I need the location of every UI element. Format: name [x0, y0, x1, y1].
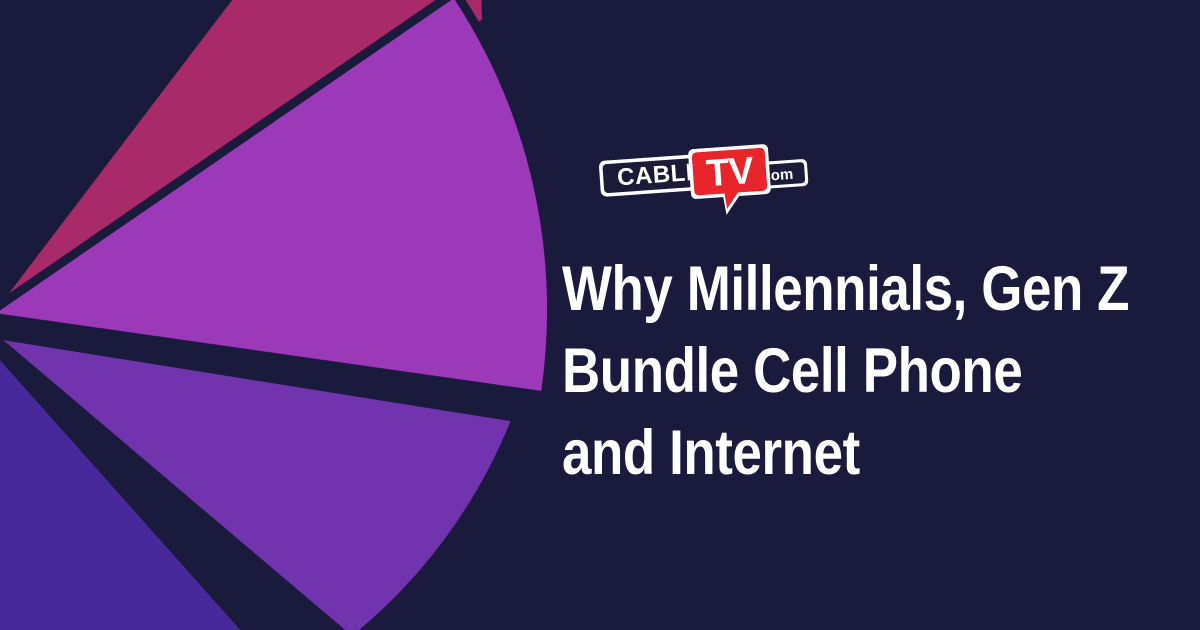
headline-line-3: and Internet	[562, 412, 1083, 494]
logo-tv-text: TV	[705, 150, 756, 195]
social-share-card: CABLE .com TV Why Millennials, Gen Z Bun…	[0, 0, 1200, 630]
headline-line-2: Bundle Cell Phone	[562, 330, 1083, 412]
cabletv-logo[interactable]: CABLE .com TV	[598, 143, 818, 215]
headline: Why Millennials, Gen Z Bundle Cell Phone…	[562, 248, 1083, 494]
headline-line-1: Why Millennials, Gen Z	[562, 248, 1083, 330]
logo-tv-speech-bubble: TV	[688, 144, 773, 215]
